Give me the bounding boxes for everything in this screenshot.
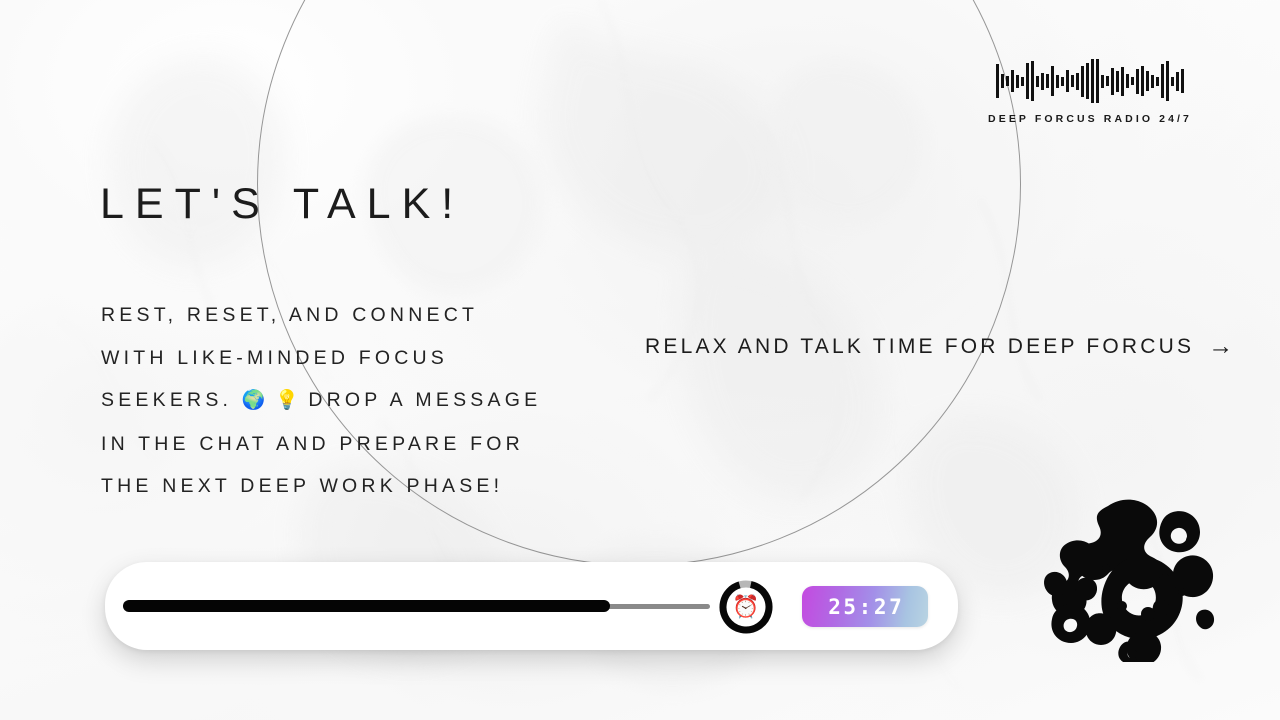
waveform-bar <box>1111 68 1114 95</box>
waveform-bar <box>1051 66 1054 96</box>
waveform-bar <box>1016 75 1019 88</box>
slide-canvas: DEEP FORCUS RADIO 24/7 LET'S TALK! REST,… <box>0 0 1280 720</box>
waveform-bar <box>1156 77 1159 86</box>
progress-fill <box>123 600 610 612</box>
waveform-bar <box>1126 74 1129 88</box>
waveform-bar <box>1071 75 1074 87</box>
body-line-2: WITH LIKE-MINDED FOCUS <box>101 347 448 369</box>
body-line-3-prefix: SEEKERS. <box>101 389 232 411</box>
alarm-clock-icon: ⏰ <box>718 579 774 635</box>
tagline-label: RELAX AND TALK TIME FOR DEEP FORCUS <box>645 335 1194 359</box>
player-bar[interactable]: ⏰ 25:27 <box>105 562 958 650</box>
page-title: LET'S TALK! <box>100 180 464 229</box>
globe-icon: 🌍 <box>242 390 266 411</box>
abstract-bubble-blob-ornament <box>1036 482 1222 662</box>
body-line-1: REST, RESET, AND CONNECT <box>101 304 478 326</box>
body-paragraph: REST, RESET, AND CONNECT WITH LIKE-MINDE… <box>101 294 571 508</box>
waveform-bar <box>1086 63 1089 99</box>
waveform-bar <box>1026 63 1029 99</box>
waveform-bar <box>1181 69 1184 93</box>
waveform-bar <box>1081 66 1084 97</box>
waveform-bar <box>996 64 999 98</box>
timer-value: 25:27 <box>826 595 905 619</box>
waveform-bar <box>1011 70 1014 92</box>
arrow-right-icon: → <box>1208 334 1233 359</box>
lightbulb-icon: 💡 <box>275 390 299 411</box>
waveform-bar <box>1161 64 1164 98</box>
waveform-bar <box>1061 77 1064 86</box>
waveform-bar <box>1006 76 1009 86</box>
waveform-bar <box>1101 75 1104 88</box>
waveform-bar <box>1096 59 1099 103</box>
waveform-bar <box>1116 71 1119 92</box>
body-line-5: THE NEXT DEEP WORK PHASE! <box>101 475 503 497</box>
waveform-bar <box>1036 76 1039 87</box>
waveform-bar <box>1176 72 1179 91</box>
waveform-bar <box>1136 69 1139 94</box>
waveform-bar <box>1106 76 1109 86</box>
session-ring-indicator[interactable]: ⏰ <box>718 579 774 635</box>
waveform-bar <box>1046 74 1049 88</box>
progress-slider[interactable] <box>123 600 710 612</box>
waveform-bar <box>1151 75 1154 88</box>
waveform-bar <box>1001 74 1004 88</box>
audio-waveform-icon <box>996 58 1184 104</box>
waveform-bar <box>1121 67 1124 96</box>
waveform-bar <box>1076 73 1079 90</box>
waveform-bar <box>1166 61 1169 101</box>
waveform-bar <box>1021 77 1024 86</box>
waveform-bar <box>1141 66 1144 96</box>
body-line-3-suffix: DROP A MESSAGE <box>308 389 541 411</box>
waveform-bar <box>1131 77 1134 85</box>
body-line-4: IN THE CHAT AND PREPARE FOR <box>101 433 524 455</box>
waveform-bar <box>1041 73 1044 90</box>
tagline: RELAX AND TALK TIME FOR DEEP FORCUS → <box>645 334 1233 359</box>
waveform-bar <box>1066 70 1069 92</box>
waveform-bar <box>1146 71 1149 91</box>
waveform-bar <box>1056 75 1059 88</box>
timer-badge[interactable]: 25:27 <box>802 586 928 627</box>
waveform-bar <box>1091 59 1094 103</box>
brand-logo: DEEP FORCUS RADIO 24/7 <box>988 58 1192 125</box>
waveform-bar <box>1171 77 1174 86</box>
brand-caption: DEEP FORCUS RADIO 24/7 <box>988 113 1192 125</box>
waveform-bar <box>1031 61 1034 101</box>
